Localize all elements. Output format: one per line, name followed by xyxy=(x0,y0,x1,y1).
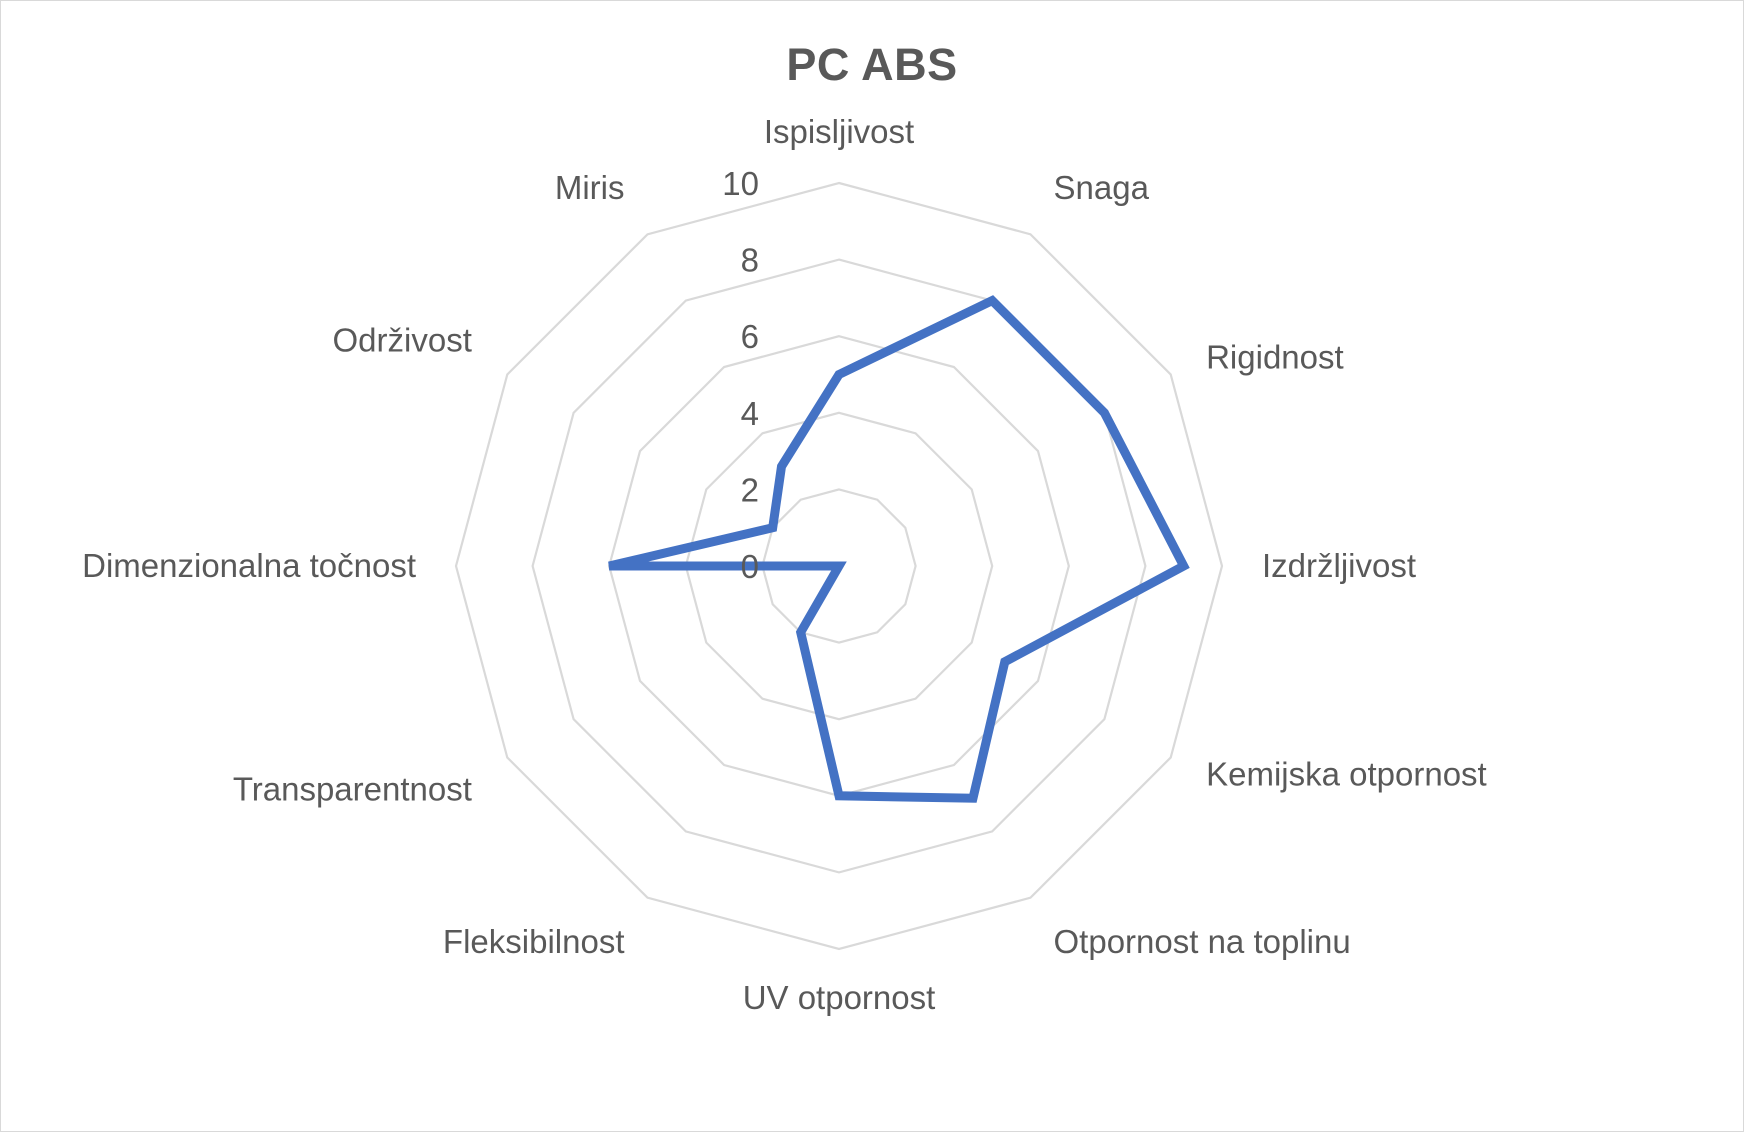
radar-tick-labels: 0246810 xyxy=(722,165,759,585)
series-polygon xyxy=(609,301,1183,799)
radial-tick-label: 10 xyxy=(722,165,759,202)
category-label: Dimenzionalna točnost xyxy=(82,547,416,584)
category-label: Ispisljivost xyxy=(764,113,914,150)
radar-chart-svg: IspisljivostSnagaRigidnostIzdržljivostKe… xyxy=(1,1,1745,1133)
category-label: Održivost xyxy=(333,322,472,359)
category-label: Miris xyxy=(555,169,625,206)
category-label: Transparentnost xyxy=(233,771,472,808)
radar-series-group xyxy=(609,301,1183,799)
radial-tick-label: 6 xyxy=(741,318,759,355)
category-label: Fleksibilnost xyxy=(443,923,625,960)
category-label: Snaga xyxy=(1054,169,1150,206)
radar-plot-area: IspisljivostSnagaRigidnostIzdržljivostKe… xyxy=(1,1,1745,1133)
radial-tick-label: 8 xyxy=(741,242,759,279)
chart-frame: PC ABS IspisljivostSnagaRigidnostIzdržlj… xyxy=(0,0,1744,1132)
category-label: Kemijska otpornost xyxy=(1206,756,1487,793)
category-label: Rigidnost xyxy=(1206,339,1344,376)
radial-tick-label: 2 xyxy=(741,471,759,508)
category-label: UV otpornost xyxy=(743,979,936,1016)
category-label: Izdržljivost xyxy=(1262,547,1416,584)
category-label: Otpornost na toplinu xyxy=(1054,923,1351,960)
radial-tick-label: 4 xyxy=(741,395,759,432)
radial-tick-label: 0 xyxy=(741,548,759,585)
